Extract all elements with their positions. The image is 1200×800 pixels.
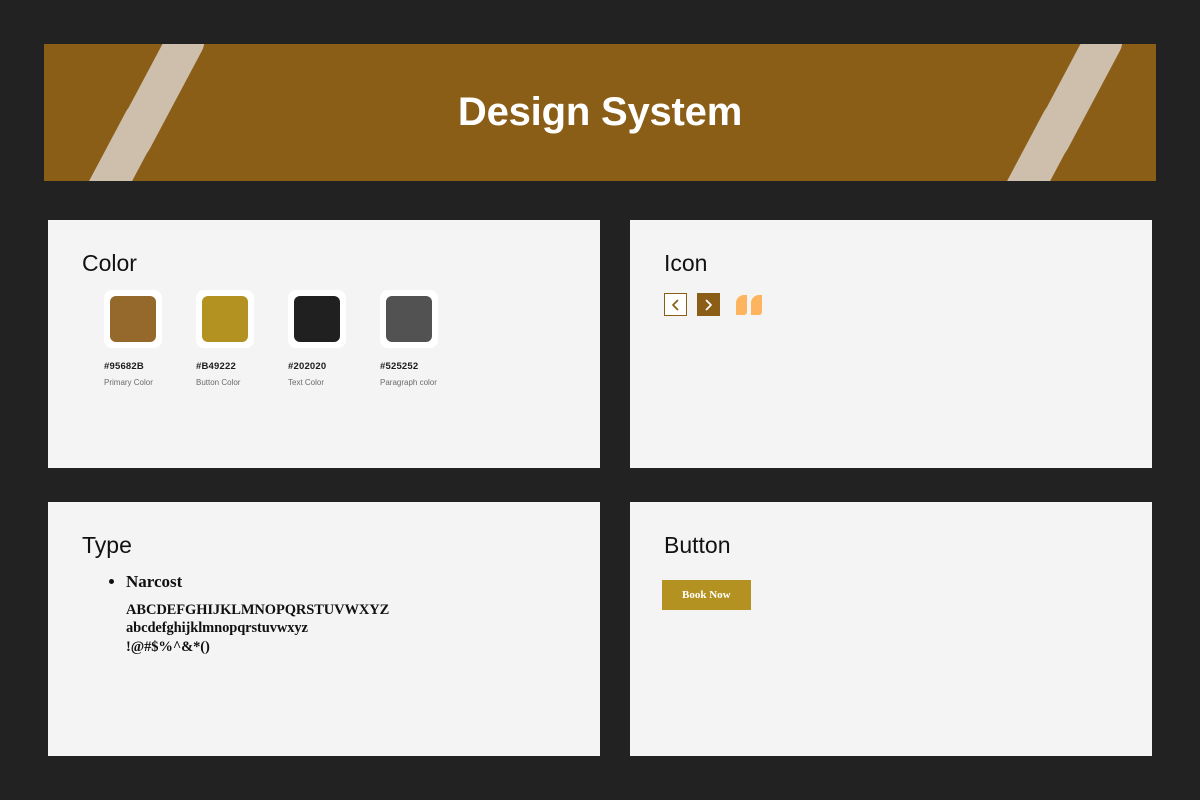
- color-role-label: Primary Color: [104, 378, 162, 387]
- color-chip: [386, 296, 432, 342]
- panel-icon: Icon: [630, 220, 1152, 468]
- color-role-label: Button Color: [196, 378, 254, 387]
- panel-button-title: Button: [664, 532, 731, 559]
- color-swatch-card: [288, 290, 346, 348]
- panel-type: Type Narcost ABCDEFGHIJKLMNOPQRSTUVWXYZ …: [48, 502, 600, 756]
- color-hex-value: #525252: [380, 361, 438, 372]
- banner-stripe-left-lower: [57, 95, 168, 181]
- page-banner: Design System: [44, 44, 1156, 181]
- color-role-label: Text Color: [288, 378, 346, 387]
- color-swatch-card: [380, 290, 438, 348]
- color-swatch-item[interactable]: #202020 Text Color: [288, 290, 346, 387]
- type-specimen-lines: ABCDEFGHIJKLMNOPQRSTUVWXYZ abcdefghijklm…: [126, 601, 389, 656]
- color-chip: [110, 296, 156, 342]
- type-specimen-symbols: !@#$%^&*(): [126, 638, 389, 656]
- icon-row: [664, 293, 762, 316]
- type-specimen-lowercase: abcdefghijklmnopqrstuvwxyz: [126, 619, 389, 637]
- panel-icon-title: Icon: [664, 250, 707, 277]
- color-swatch-item[interactable]: #525252 Paragraph color: [380, 290, 438, 387]
- color-swatch-card: [196, 290, 254, 348]
- type-font-name: Narcost: [126, 572, 389, 592]
- color-chip: [294, 296, 340, 342]
- color-hex-value: #202020: [288, 361, 346, 372]
- panel-color-title: Color: [82, 250, 137, 277]
- color-swatch-item[interactable]: #95682B Primary Color: [104, 290, 162, 387]
- quote-icon[interactable]: [736, 295, 762, 315]
- quote-mark-left: [736, 295, 747, 315]
- panel-type-title: Type: [82, 532, 132, 559]
- quote-mark-right: [751, 295, 762, 315]
- color-swatch-card: [104, 290, 162, 348]
- banner-stripe-right-lower: [975, 95, 1086, 181]
- type-specimen-block: Narcost ABCDEFGHIJKLMNOPQRSTUVWXYZ abcde…: [104, 572, 389, 656]
- color-hex-value: #95682B: [104, 361, 162, 372]
- chevron-right-icon[interactable]: [697, 293, 720, 316]
- panel-button: Button Book Now: [630, 502, 1152, 756]
- page-title: Design System: [458, 90, 742, 135]
- color-role-label: Paragraph color: [380, 378, 438, 387]
- color-hex-value: #B49222: [196, 361, 254, 372]
- color-swatch-item[interactable]: #B49222 Button Color: [196, 290, 254, 387]
- color-swatch-row: #95682B Primary Color #B49222 Button Col…: [104, 290, 438, 387]
- book-now-button[interactable]: Book Now: [662, 580, 751, 610]
- type-font-list: Narcost: [104, 572, 389, 592]
- chevron-left-icon[interactable]: [664, 293, 687, 316]
- color-chip: [202, 296, 248, 342]
- type-specimen-uppercase: ABCDEFGHIJKLMNOPQRSTUVWXYZ: [126, 601, 389, 619]
- panel-color: Color #95682B Primary Color #B49222 Butt…: [48, 220, 600, 468]
